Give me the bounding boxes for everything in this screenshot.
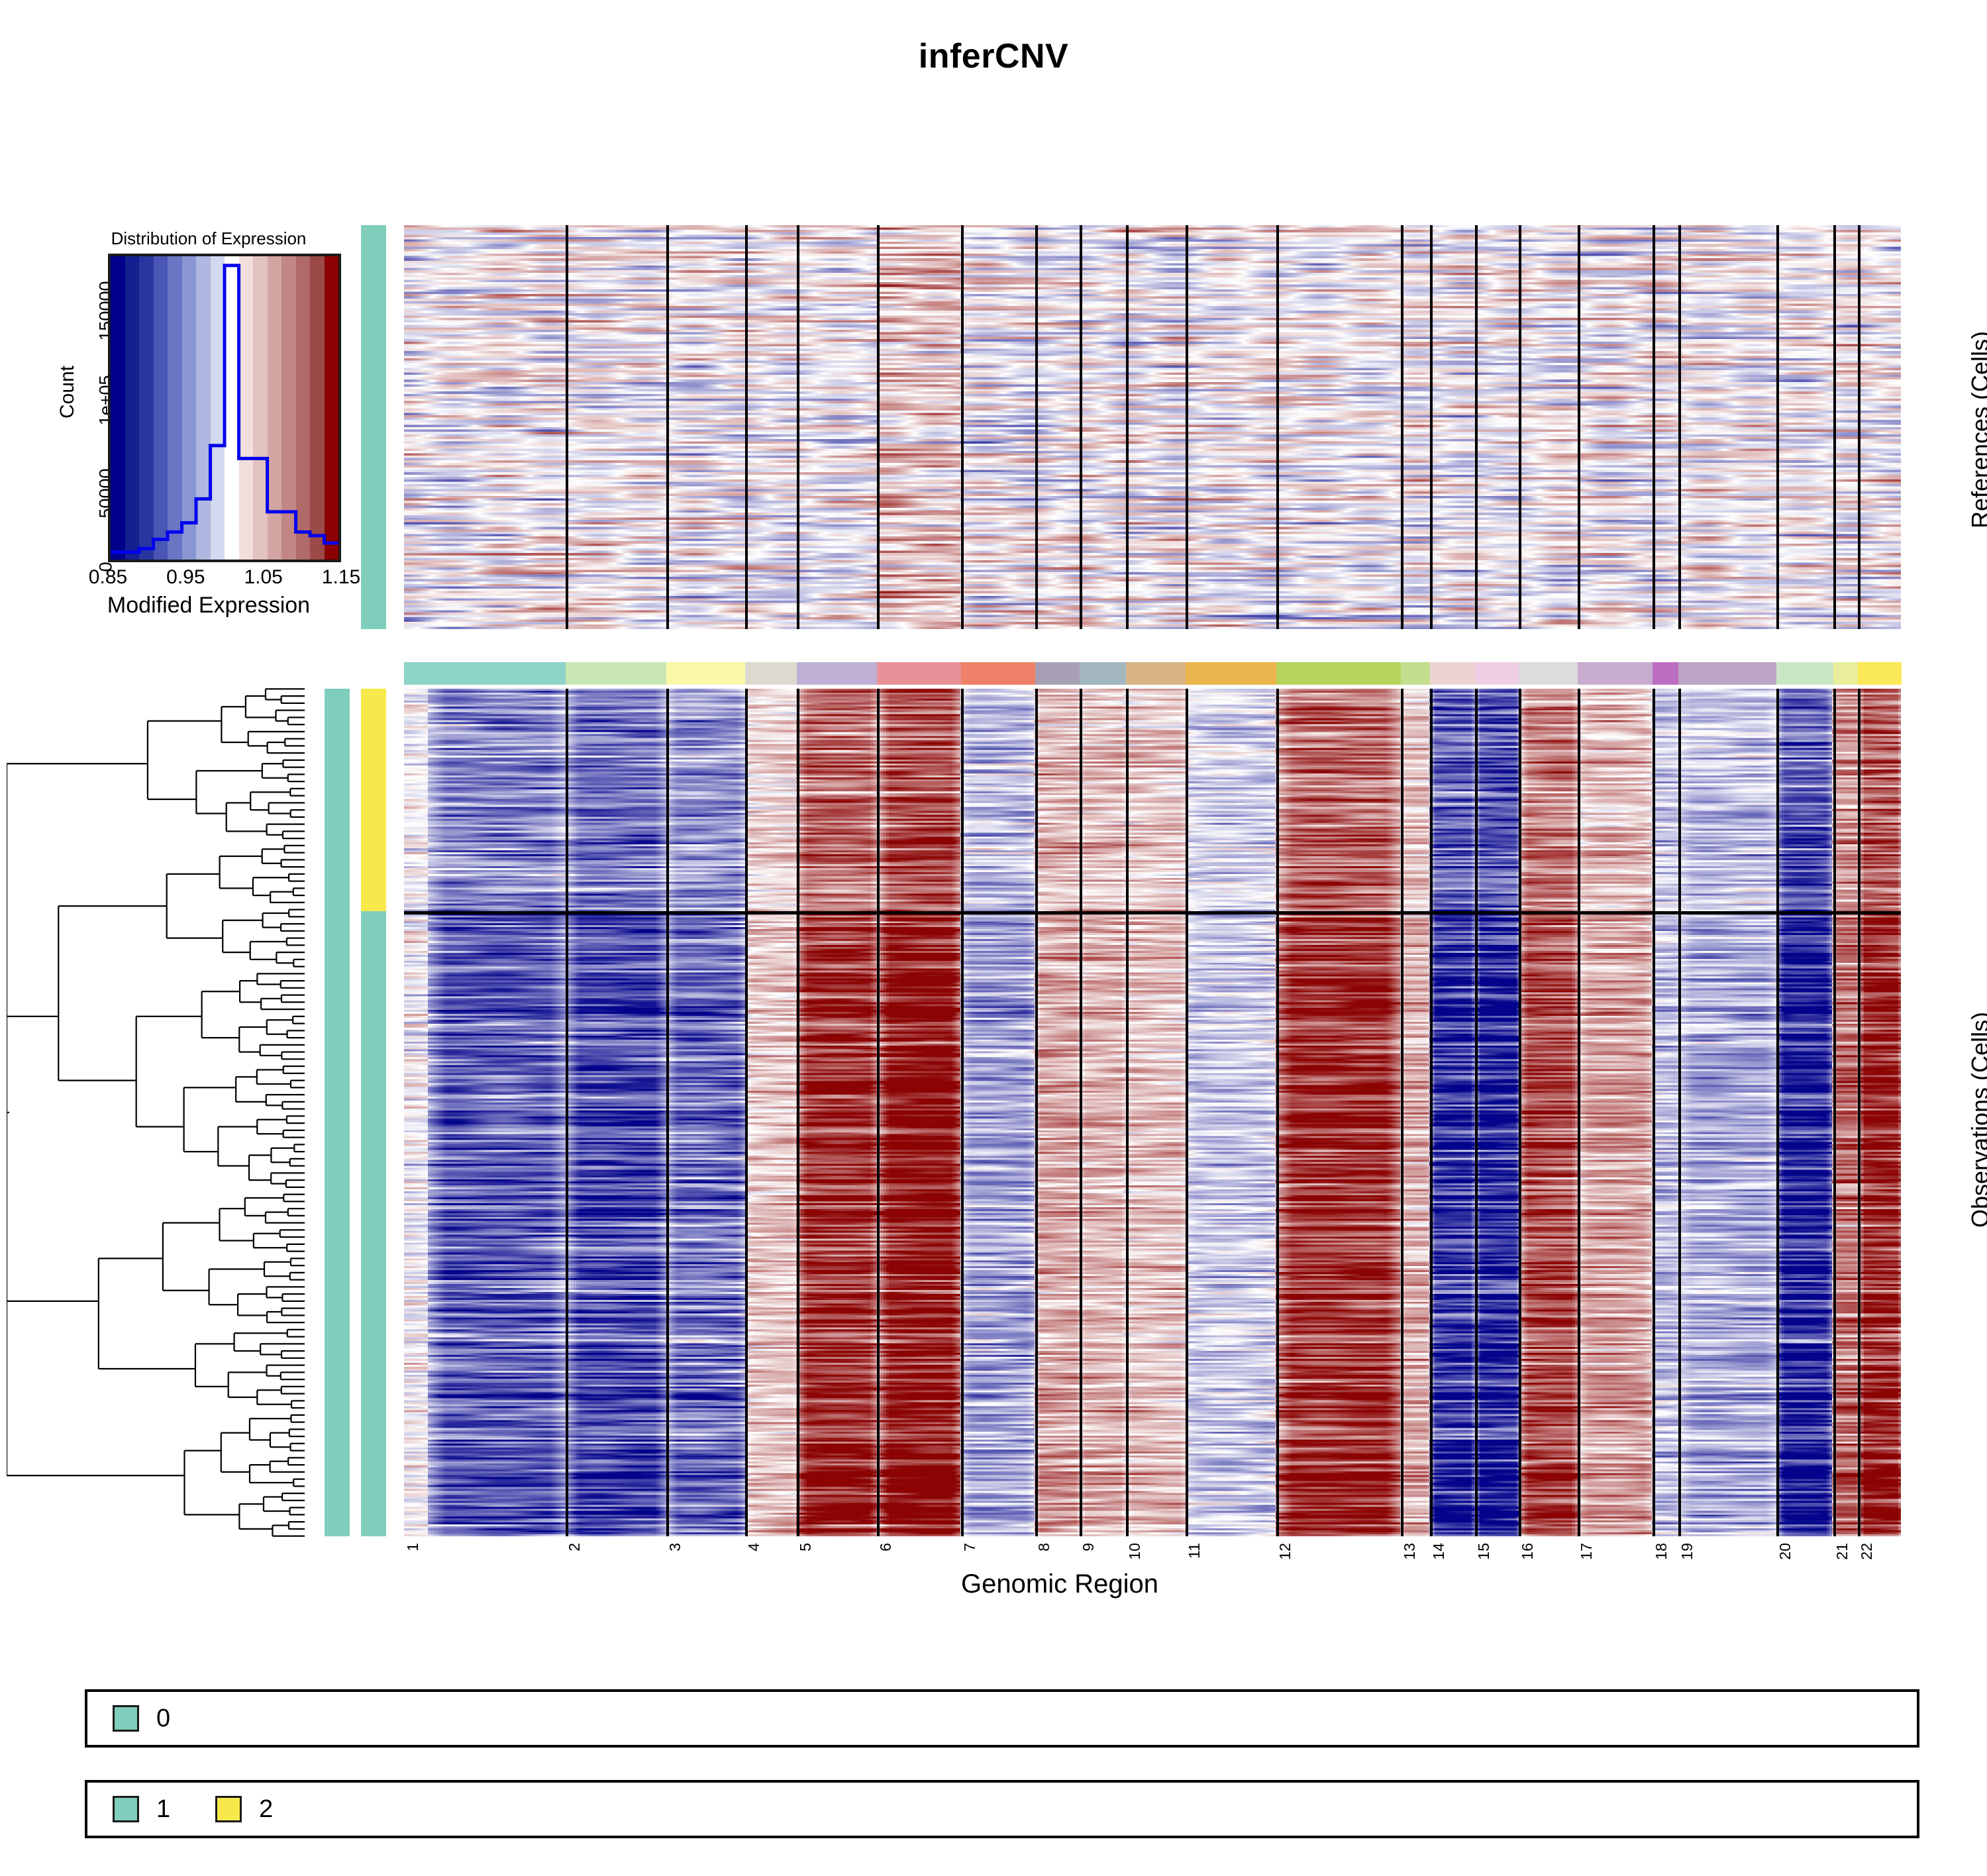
chromosome-tick-20: 20 bbox=[1776, 1543, 1794, 1560]
reference-group-annotation-bar bbox=[361, 225, 386, 629]
chromosome-separator bbox=[745, 689, 748, 1536]
chromosome-separator bbox=[566, 225, 568, 629]
expression-distribution-panel: Distribution of Expression Count 0500001… bbox=[40, 228, 351, 626]
chromosome-separator bbox=[1653, 225, 1655, 629]
observation-group-separator bbox=[404, 911, 1901, 914]
chromosome-band-22 bbox=[1858, 662, 1902, 685]
dendrogram-path bbox=[7, 689, 305, 1536]
infercnv-plot: inferCNV Distribution of Expression Coun… bbox=[0, 0, 1987, 1876]
chromosome-separator bbox=[877, 225, 880, 629]
chromosome-separator bbox=[1678, 225, 1681, 629]
chromosome-tick-17: 17 bbox=[1578, 1543, 1596, 1560]
legend-swatch-0 bbox=[113, 1705, 139, 1732]
chromosome-tick-14: 14 bbox=[1430, 1543, 1448, 1560]
histogram-path bbox=[111, 266, 338, 552]
distribution-x-tick: 0.85 bbox=[89, 566, 127, 589]
chromosome-separator bbox=[1126, 225, 1129, 629]
chromosome-band-6 bbox=[877, 662, 962, 685]
references-axis-label: References (Cells) bbox=[1966, 291, 1987, 569]
chromosome-separator bbox=[1035, 689, 1038, 1536]
chromosome-tick-4: 4 bbox=[745, 1543, 763, 1552]
chromosome-tick-8: 8 bbox=[1035, 1543, 1053, 1552]
chromosome-separator bbox=[1475, 225, 1478, 629]
distribution-x-ticks: 0.850.951.051.15 bbox=[108, 566, 341, 590]
reference-annotation-0 bbox=[361, 225, 386, 629]
chromosome-band-20 bbox=[1776, 662, 1834, 685]
chromosome-tick-5: 5 bbox=[797, 1543, 815, 1552]
observation-legend[interactable]: 12 bbox=[85, 1780, 1919, 1838]
chromosome-separator bbox=[1858, 225, 1860, 629]
chromosome-separator bbox=[877, 689, 880, 1536]
chromosome-band-10 bbox=[1126, 662, 1187, 685]
chromosome-tick-11: 11 bbox=[1186, 1543, 1203, 1559]
chromosome-tick-9: 9 bbox=[1080, 1543, 1097, 1552]
chromosome-separator bbox=[1186, 689, 1188, 1536]
observation-annotation-2 bbox=[361, 689, 386, 911]
chromosome-band-14 bbox=[1430, 662, 1476, 685]
chromosome-tick-13: 13 bbox=[1401, 1543, 1419, 1560]
chromosome-separator bbox=[961, 225, 964, 629]
chromosome-separator bbox=[566, 689, 568, 1536]
chromosome-separator bbox=[1430, 225, 1433, 629]
chromosome-band-19 bbox=[1678, 662, 1777, 685]
chromosome-band-8 bbox=[1035, 662, 1080, 685]
observation-group-annotation-bar bbox=[361, 689, 386, 1536]
chromosome-band-4 bbox=[745, 662, 798, 685]
legend-item[interactable]: 0 bbox=[113, 1704, 190, 1733]
chromosome-band-17 bbox=[1578, 662, 1653, 685]
chromosome-separator bbox=[666, 225, 669, 629]
chromosome-band-11 bbox=[1186, 662, 1278, 685]
legend-label: 2 bbox=[259, 1795, 273, 1824]
chromosome-separator bbox=[1776, 225, 1779, 629]
page-title: inferCNV bbox=[0, 36, 1987, 76]
chromosome-separator bbox=[1858, 689, 1860, 1536]
chromosome-separator bbox=[1653, 689, 1655, 1536]
legend-label: 0 bbox=[156, 1704, 170, 1733]
observation-cluster-annotation-bar bbox=[325, 689, 350, 1536]
chromosome-separator bbox=[1126, 689, 1129, 1536]
distribution-x-axis-title: Modified Expression bbox=[66, 593, 351, 618]
chromosome-tick-18: 18 bbox=[1653, 1543, 1670, 1560]
chromosome-tick-2: 2 bbox=[566, 1543, 584, 1552]
chromosome-tick-1: 1 bbox=[404, 1543, 422, 1552]
chromosome-band-12 bbox=[1276, 662, 1401, 685]
chromosome-separator bbox=[1186, 225, 1188, 629]
chromosome-tick-15: 15 bbox=[1475, 1543, 1493, 1560]
chromosome-tick-22: 22 bbox=[1858, 1543, 1876, 1560]
chromosome-separator bbox=[1035, 225, 1038, 629]
chromosome-band-13 bbox=[1401, 662, 1431, 685]
chromosome-tick-19: 19 bbox=[1678, 1543, 1696, 1560]
chromosome-separator bbox=[1578, 225, 1580, 629]
chromosome-separator bbox=[1833, 225, 1836, 629]
observation-annotation-1 bbox=[361, 911, 386, 1536]
references-heatmap bbox=[404, 225, 1901, 629]
chromosome-separator bbox=[1430, 689, 1433, 1536]
chromosome-band-7 bbox=[961, 662, 1037, 685]
distribution-x-tick: 0.95 bbox=[166, 566, 205, 589]
reference-legend[interactable]: 0 bbox=[85, 1689, 1919, 1748]
distribution-title: Distribution of Expression bbox=[66, 228, 351, 249]
chromosome-color-strip bbox=[404, 662, 1901, 685]
observation-cluster-1 bbox=[325, 689, 350, 1536]
chromosome-separator bbox=[1401, 225, 1403, 629]
chromosome-separator bbox=[1276, 225, 1279, 629]
legend-label: 1 bbox=[156, 1795, 170, 1824]
chromosome-separator bbox=[1401, 689, 1403, 1536]
chromosome-band-16 bbox=[1519, 662, 1578, 685]
chromosome-tick-6: 6 bbox=[877, 1543, 895, 1552]
chromosome-separator bbox=[1833, 689, 1836, 1536]
chromosome-tick-7: 7 bbox=[961, 1543, 979, 1552]
chromosome-separator bbox=[1276, 689, 1279, 1536]
legend-swatch-1 bbox=[113, 1796, 139, 1822]
chromosome-separator bbox=[1519, 225, 1521, 629]
chromosome-separator bbox=[1475, 689, 1478, 1536]
legend-swatch-2 bbox=[215, 1796, 242, 1822]
chromosome-tick-21: 21 bbox=[1833, 1543, 1851, 1560]
chromosome-band-18 bbox=[1653, 662, 1680, 685]
chromosome-tick-10: 10 bbox=[1126, 1543, 1144, 1560]
chromosome-tick-16: 16 bbox=[1519, 1543, 1537, 1560]
observations-heatmap bbox=[404, 689, 1901, 1536]
chromosome-tick-3: 3 bbox=[666, 1543, 684, 1552]
chromosome-separator bbox=[1776, 689, 1779, 1536]
distribution-plot bbox=[108, 254, 341, 562]
chromosome-separator bbox=[666, 689, 669, 1536]
chromosome-separator bbox=[961, 689, 964, 1536]
chromosome-separator bbox=[1080, 689, 1082, 1536]
chromosome-separator bbox=[797, 225, 799, 629]
legend-item[interactable]: 1 bbox=[113, 1795, 190, 1824]
distribution-x-tick: 1.15 bbox=[322, 566, 360, 589]
chromosome-separator bbox=[1519, 689, 1521, 1536]
chromosome-band-2 bbox=[566, 662, 668, 685]
chromosome-band-15 bbox=[1475, 662, 1520, 685]
legend-item[interactable]: 2 bbox=[215, 1795, 293, 1824]
genomic-region-axis-title: Genomic Region bbox=[861, 1569, 1258, 1599]
observations-axis-label: Observations (Cells) bbox=[1966, 967, 1987, 1272]
chromosome-band-21 bbox=[1833, 662, 1859, 685]
chromosome-band-1 bbox=[404, 662, 566, 685]
distribution-y-axis-title: Count bbox=[56, 326, 79, 458]
chromosome-band-3 bbox=[666, 662, 746, 685]
chromosome-separator bbox=[745, 225, 748, 629]
chromosome-separator bbox=[1578, 689, 1580, 1536]
chromosome-tick-12: 12 bbox=[1276, 1543, 1294, 1560]
distribution-x-tick: 1.05 bbox=[244, 566, 282, 589]
chromosome-band-9 bbox=[1080, 662, 1127, 685]
histogram-outline bbox=[111, 256, 338, 560]
cell-dendrogram bbox=[7, 685, 305, 1540]
chromosome-band-5 bbox=[797, 662, 878, 685]
chromosome-separator bbox=[1080, 225, 1082, 629]
chromosome-separator bbox=[1678, 689, 1681, 1536]
chromosome-separator bbox=[797, 689, 799, 1536]
